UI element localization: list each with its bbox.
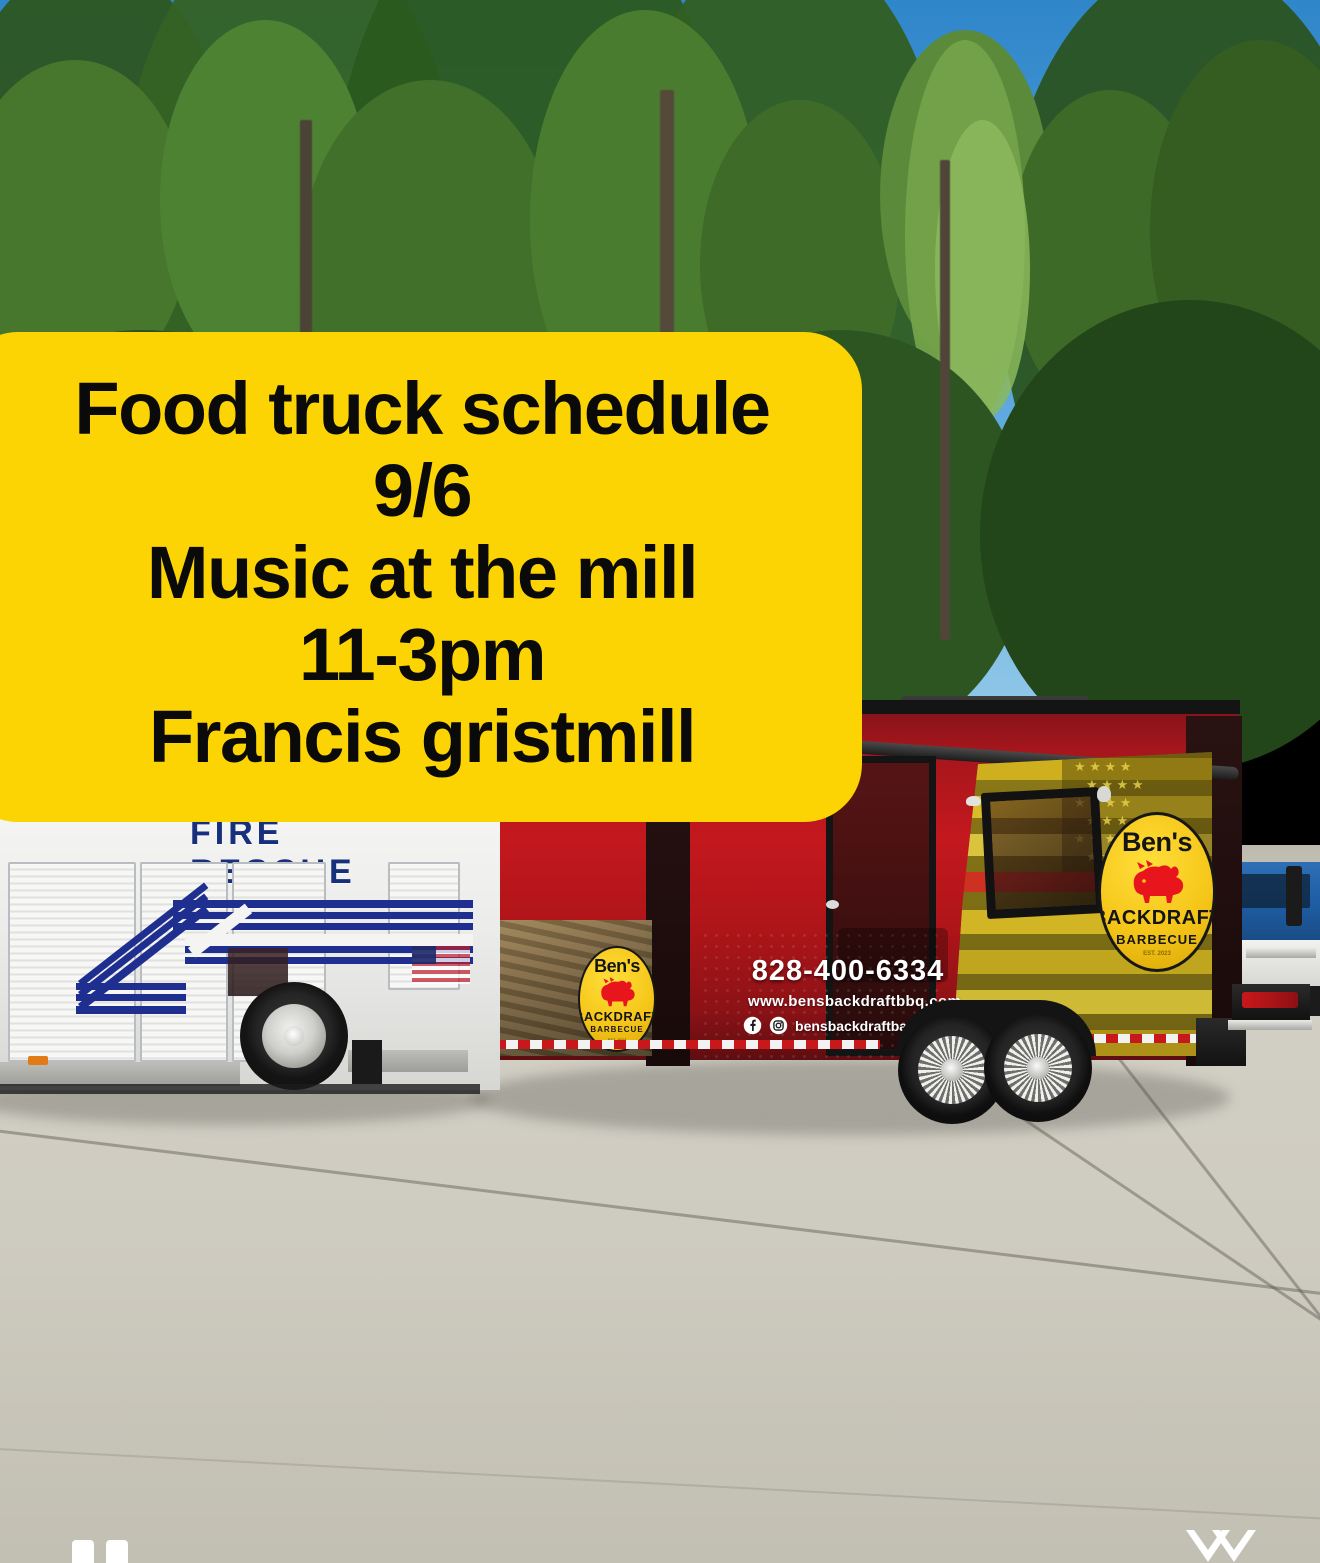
- pause-bar-right: [106, 1540, 128, 1563]
- instagram-icon: [769, 1016, 788, 1035]
- logo-small-brand-name: Ben's: [594, 956, 640, 977]
- logo-brand-name: Ben's: [1122, 827, 1192, 858]
- logo-line-2: BARBECUE: [1116, 932, 1198, 947]
- logo-established: EST. 2023: [1143, 951, 1171, 957]
- logo-small-line-2: BARBECUE: [590, 1025, 643, 1034]
- website-url: www.bensbackdraftbbq.com: [748, 993, 948, 1010]
- pause-icon[interactable]: [72, 1540, 128, 1563]
- pig-icon-small: [596, 977, 638, 1007]
- video-frame: ★ ★ ★ ★ ★ ★ ★ ★ ★ ★ ★ ★ ★ ★ ★ ★ ★ ★ ★ ★ …: [0, 0, 1320, 1563]
- trailer-main-logo: Ben's BACKDRAFT BARBECUE EST. 2023: [1098, 812, 1216, 972]
- next-chevron-icon[interactable]: [1182, 1528, 1260, 1563]
- logo-small-line-1: BACKDRAFT: [578, 1009, 656, 1024]
- pause-bar-left: [72, 1540, 94, 1563]
- caption-line-1: Food truck schedule: [74, 368, 769, 450]
- caption-line-2: 9/6: [373, 450, 471, 532]
- phone-number: 828-400-6334: [748, 955, 948, 988]
- caption-line-3: Music at the mill: [147, 532, 697, 614]
- trailer-small-logo: Ben's BACKDRAFT BARBECUE EST. 2023: [578, 946, 656, 1052]
- reflective-tape: [494, 1040, 880, 1049]
- caption-line-4: 11-3pm: [299, 614, 545, 696]
- pig-icon: [1126, 860, 1188, 904]
- caption-line-5: Francis gristmill: [149, 696, 695, 778]
- facebook-icon: [743, 1016, 762, 1035]
- trailer-shadow: [470, 1060, 1230, 1135]
- logo-line-1: BACKDRAFT: [1098, 907, 1216, 930]
- caption-overlay[interactable]: Food truck schedule 9/6 Music at the mil…: [0, 332, 862, 822]
- serving-window: [981, 787, 1105, 919]
